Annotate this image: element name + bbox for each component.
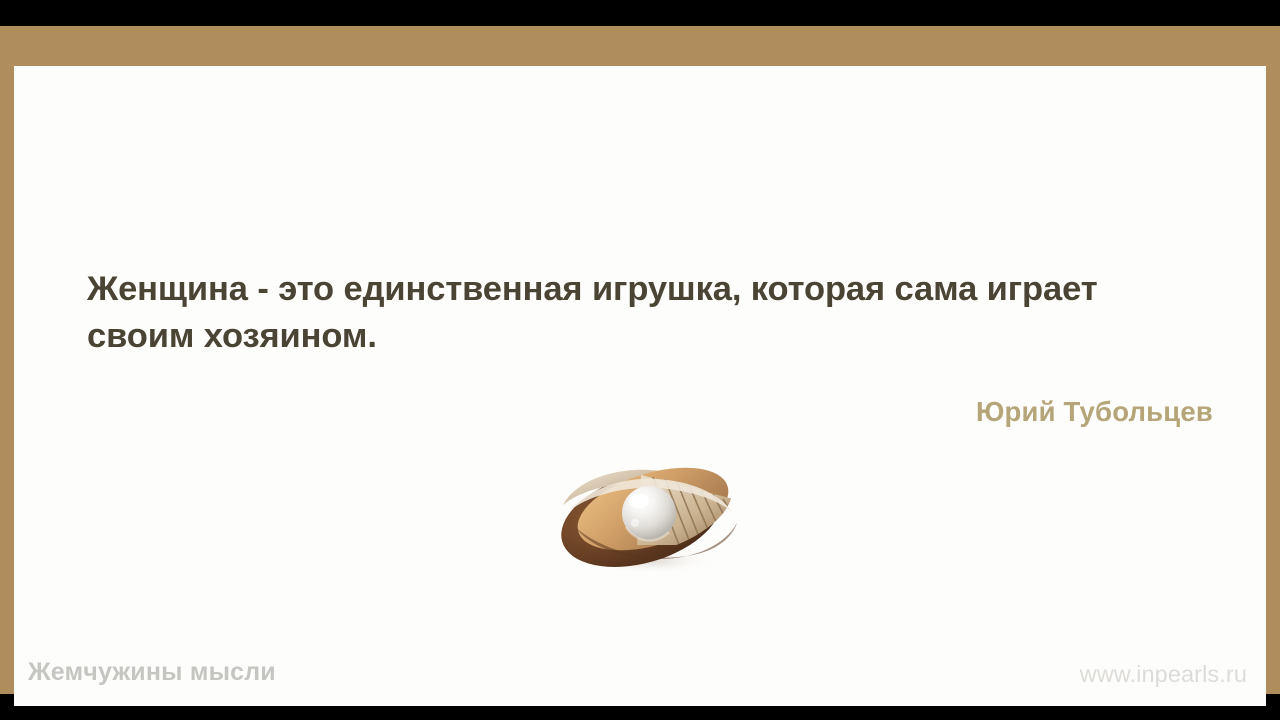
website-watermark: www.inpearls.ru [1080, 661, 1247, 688]
seashell-with-pearl-icon [545, 449, 755, 579]
quote-card: Женщина - это единственная игрушка, кото… [14, 66, 1266, 706]
slide-canvas: Женщина - это единственная игрушка, кото… [0, 0, 1280, 720]
quote-author: Юрий Тубольцев [14, 396, 1213, 428]
decorative-frame: Женщина - это единственная игрушка, кото… [0, 26, 1280, 694]
quote-text: Женщина - это единственная игрушка, кото… [87, 266, 1197, 360]
brand-label: Жемчужины мысли [28, 658, 276, 687]
